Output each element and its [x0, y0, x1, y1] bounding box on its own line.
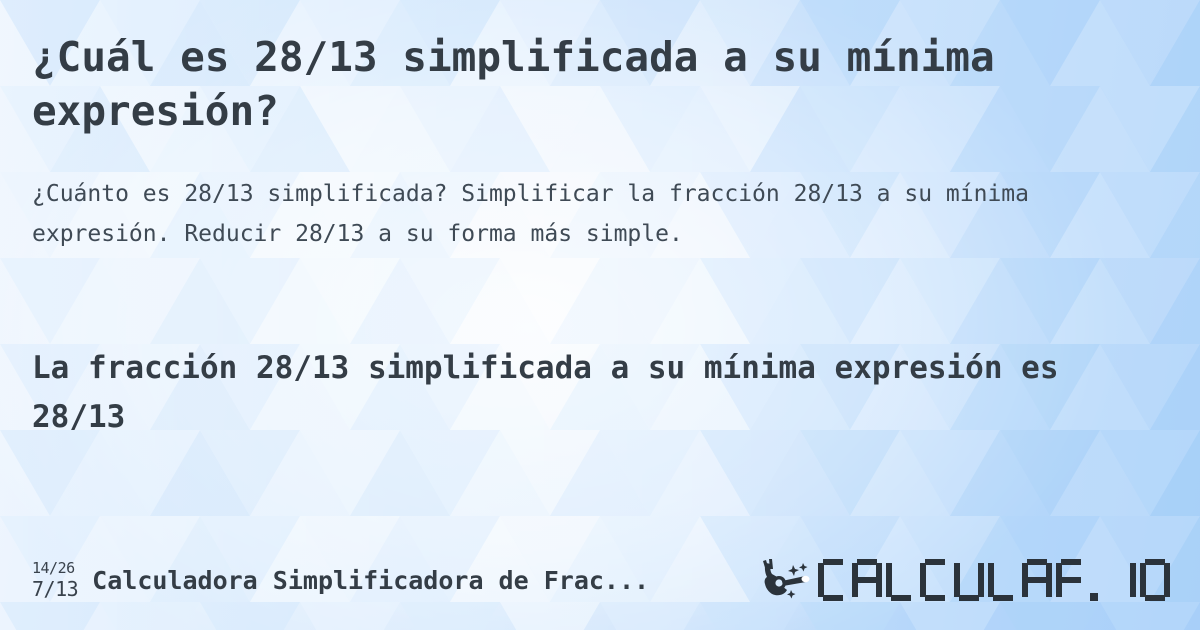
- answer-statement: La fracción 28/13 simplificada a su míni…: [32, 344, 1092, 442]
- brand-letter-o: [1140, 559, 1170, 601]
- footer-bar: 14/26 7/13 Calculadora Simplificadora de…: [0, 552, 1200, 608]
- brand-letter-t: [1056, 559, 1086, 601]
- share-card: ¿Cuál es 28/13 simplificada a su mínima …: [0, 0, 1200, 630]
- brand-letter-dot: [1090, 559, 1102, 601]
- brand-letter-c1: [818, 559, 848, 601]
- site-title: Calculadora Simplificadora de Frac...: [92, 566, 649, 595]
- page-description: ¿Cuánto es 28/13 simplificada? Simplific…: [32, 174, 1092, 254]
- favicon-simplified-fraction: 7/13: [32, 579, 78, 599]
- fraction-favicon-icon: 14/26 7/13: [32, 561, 78, 599]
- brand-letter-u: [954, 559, 984, 601]
- brand-wordmark: [818, 559, 1174, 601]
- brand-letter-i: [1106, 559, 1136, 601]
- brand-logo[interactable]: [760, 557, 1174, 603]
- card-content: ¿Cuál es 28/13 simplificada a su mínima …: [0, 0, 1200, 630]
- brand-letter-a1: [852, 559, 882, 601]
- brand-letter-c2: [920, 559, 950, 601]
- hand-magic-wand-icon: [760, 557, 816, 603]
- page-title: ¿Cuál es 28/13 simplificada a su mínima …: [32, 30, 1042, 138]
- brand-letter-a2: [1022, 559, 1052, 601]
- brand-letter-l2: [988, 559, 1018, 601]
- brand-letter-l1: [886, 559, 916, 601]
- favicon-numerator-fraction: 14/26: [32, 561, 75, 576]
